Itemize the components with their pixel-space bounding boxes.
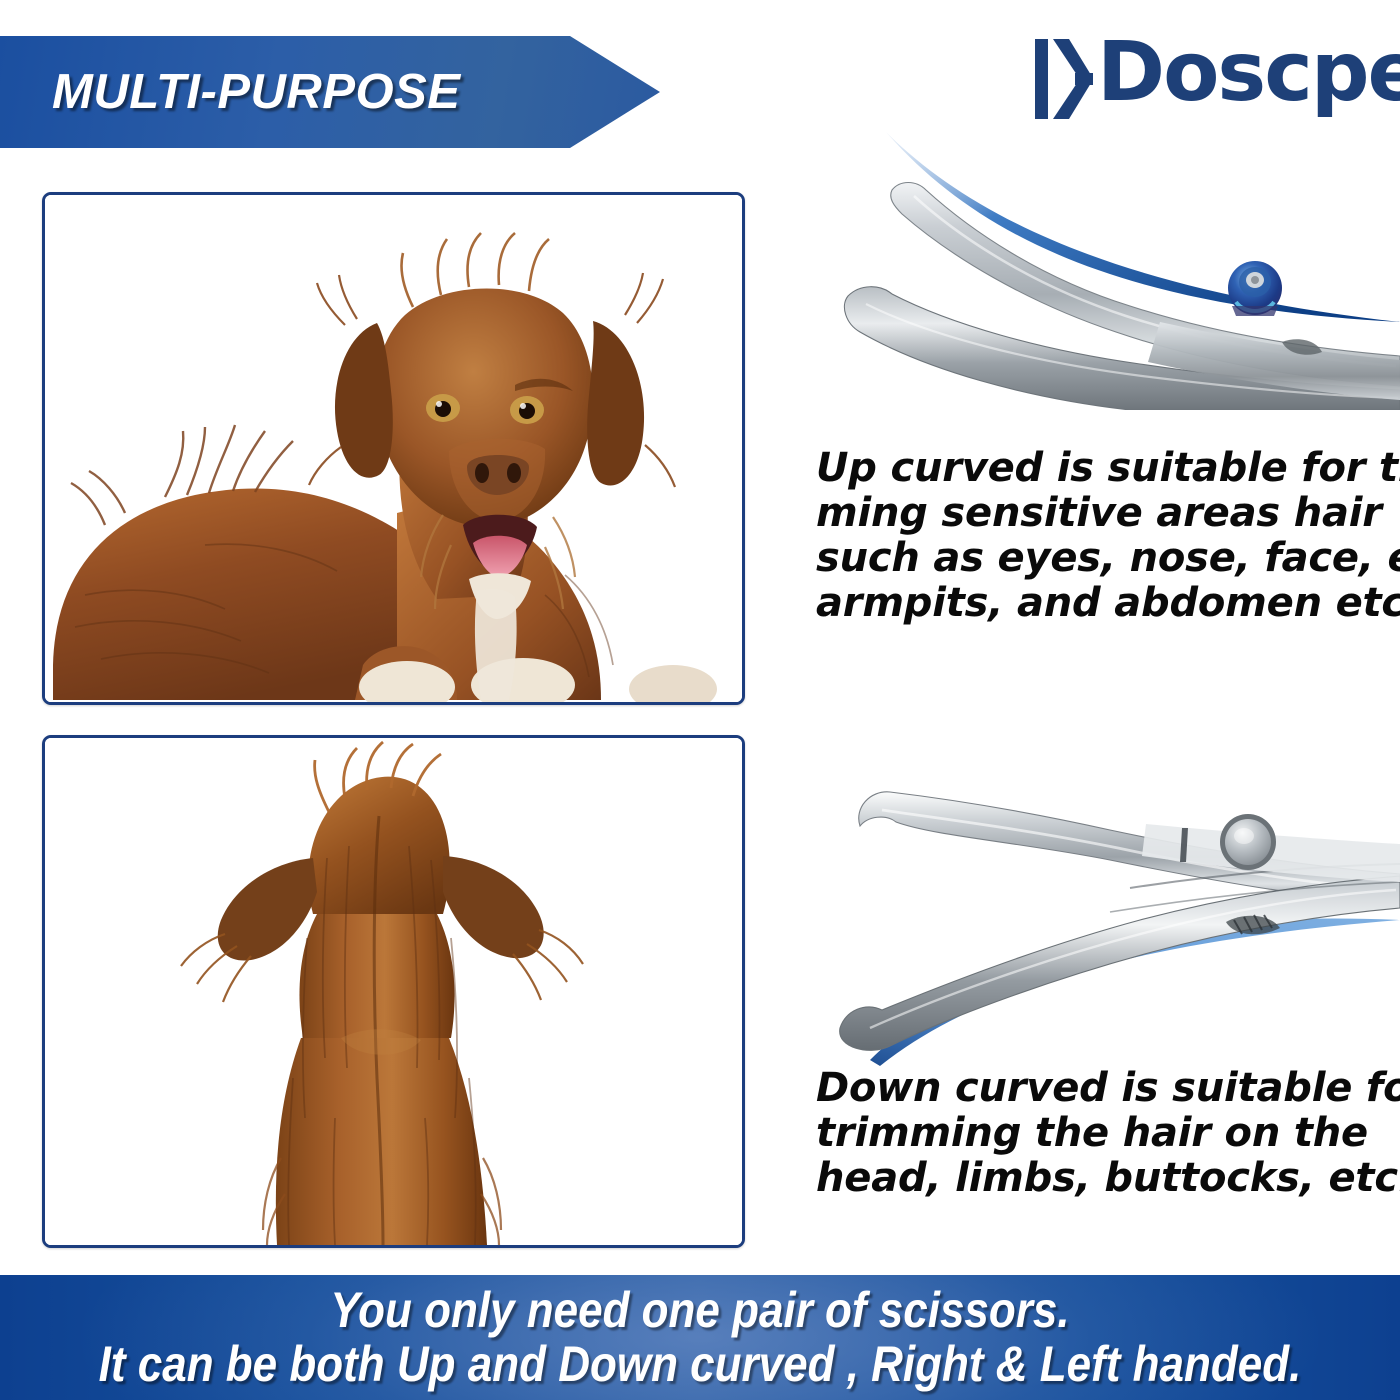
desc-line: head, limbs, buttocks, etc. — [816, 1156, 1356, 1201]
up-curved-scissors-icon: Doscpe — [830, 110, 1400, 410]
stylized-d-icon — [1035, 39, 1093, 119]
up-curved-description: Up curved is suitable for trim- ming sen… — [816, 446, 1356, 626]
logo-wordmark: Doscpe — [1097, 32, 1400, 114]
desc-line: trimming the hair on the — [816, 1111, 1356, 1156]
down-curved-scissors-icon — [830, 770, 1400, 1070]
photo-dog-back-head-up — [45, 738, 742, 1245]
down-curved-description: Down curved is suitable for trimming the… — [816, 1066, 1356, 1201]
dog-back-illustration — [45, 738, 742, 1245]
bottom-tagline-banner: You only need one pair of scissors. It c… — [0, 1275, 1400, 1400]
banner-title: MULTI-PURPOSE — [52, 64, 460, 120]
desc-line: such as eyes, nose, face, ears, — [816, 536, 1356, 581]
desc-line: ming sensitive areas hair — [816, 491, 1356, 536]
tagline-line-1: You only need one pair of scissors. — [84, 1281, 1316, 1339]
multi-purpose-banner: MULTI-PURPOSE — [0, 36, 660, 148]
photo-frame-dog-back — [42, 735, 745, 1248]
desc-line: armpits, and abdomen etc. — [816, 581, 1356, 626]
photo-dog-front-lying — [45, 195, 742, 702]
pivot-screw-metal — [1220, 814, 1276, 870]
desc-line: Down curved is suitable for — [816, 1066, 1356, 1111]
photo-frame-dog-front — [42, 192, 745, 705]
blade-brand-text: Doscpe — [1310, 282, 1374, 303]
dog-front-illustration — [45, 195, 742, 702]
desc-line: Up curved is suitable for trim- — [816, 446, 1356, 491]
pivot-screw-blue — [1228, 261, 1282, 316]
tagline-line-2: It can be both Up and Down curved , Righ… — [84, 1335, 1316, 1393]
